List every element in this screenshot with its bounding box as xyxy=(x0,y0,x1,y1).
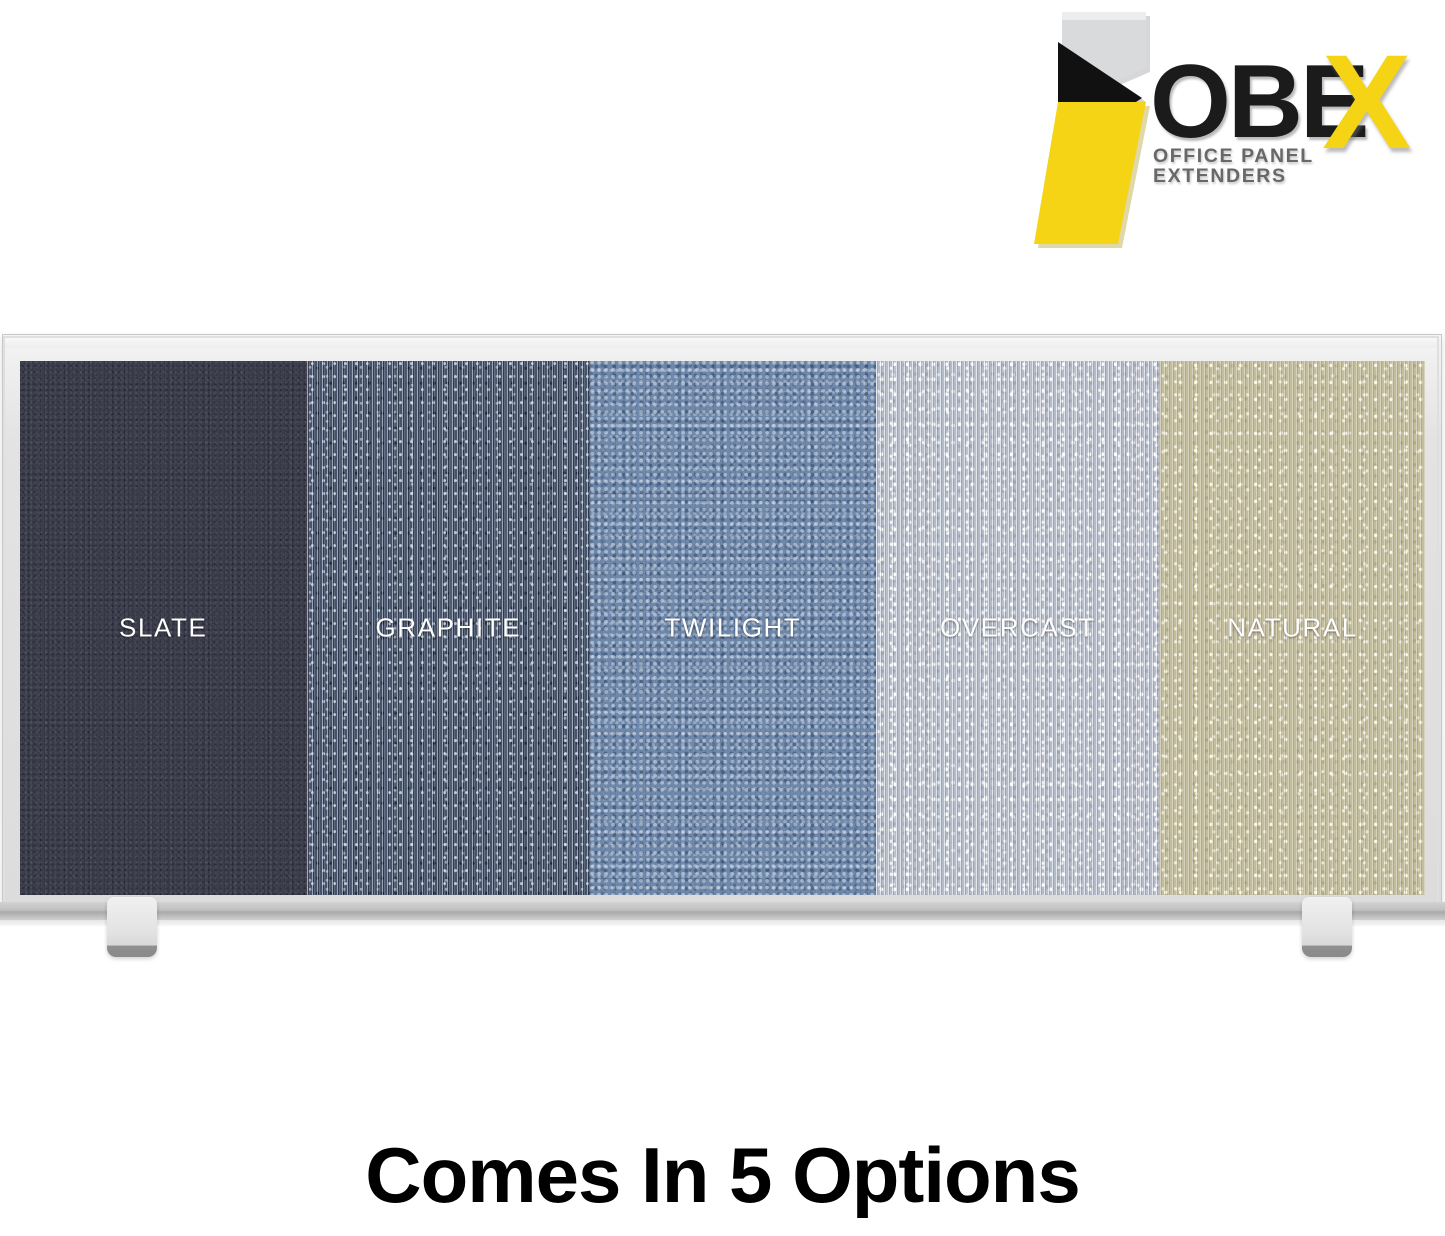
panel-base-rail-shadow xyxy=(0,920,1445,926)
obex-chevron-mark-icon xyxy=(1032,10,1160,248)
panel-mounting-foot-right xyxy=(1302,897,1352,957)
panel-base-rail xyxy=(0,902,1445,920)
swatch-label-graphite: GRAPHITE xyxy=(307,613,591,644)
fabric-swatch-strip: SLATE GRAPHITE TWILIGHT OVERCAST NATURAL xyxy=(20,361,1425,895)
swatch-graphite[interactable]: GRAPHITE xyxy=(307,361,591,895)
swatch-overcast[interactable]: OVERCAST xyxy=(876,361,1161,895)
swatch-label-twilight: TWILIGHT xyxy=(590,613,876,644)
swatch-label-natural: NATURAL xyxy=(1160,613,1425,644)
caption-text: Comes In 5 Options xyxy=(0,1132,1445,1218)
swatch-label-slate: SLATE xyxy=(20,613,307,644)
swatch-natural[interactable]: NATURAL xyxy=(1160,361,1425,895)
swatch-slate[interactable]: SLATE xyxy=(20,361,307,895)
brand-tagline: OFFICE PANEL EXTENDERS xyxy=(1153,146,1440,186)
obex-wordmark: OBE X OFFICE PANEL EXTENDERS xyxy=(1150,50,1440,180)
panel-mounting-foot-left xyxy=(107,897,157,957)
swatch-label-overcast: OVERCAST xyxy=(876,613,1161,644)
panel-extender-product: SLATE GRAPHITE TWILIGHT OVERCAST NATURAL xyxy=(0,330,1445,930)
swatch-twilight[interactable]: TWILIGHT xyxy=(590,361,876,895)
brand-logo: OBE X OFFICE PANEL EXTENDERS xyxy=(1032,6,1436,246)
